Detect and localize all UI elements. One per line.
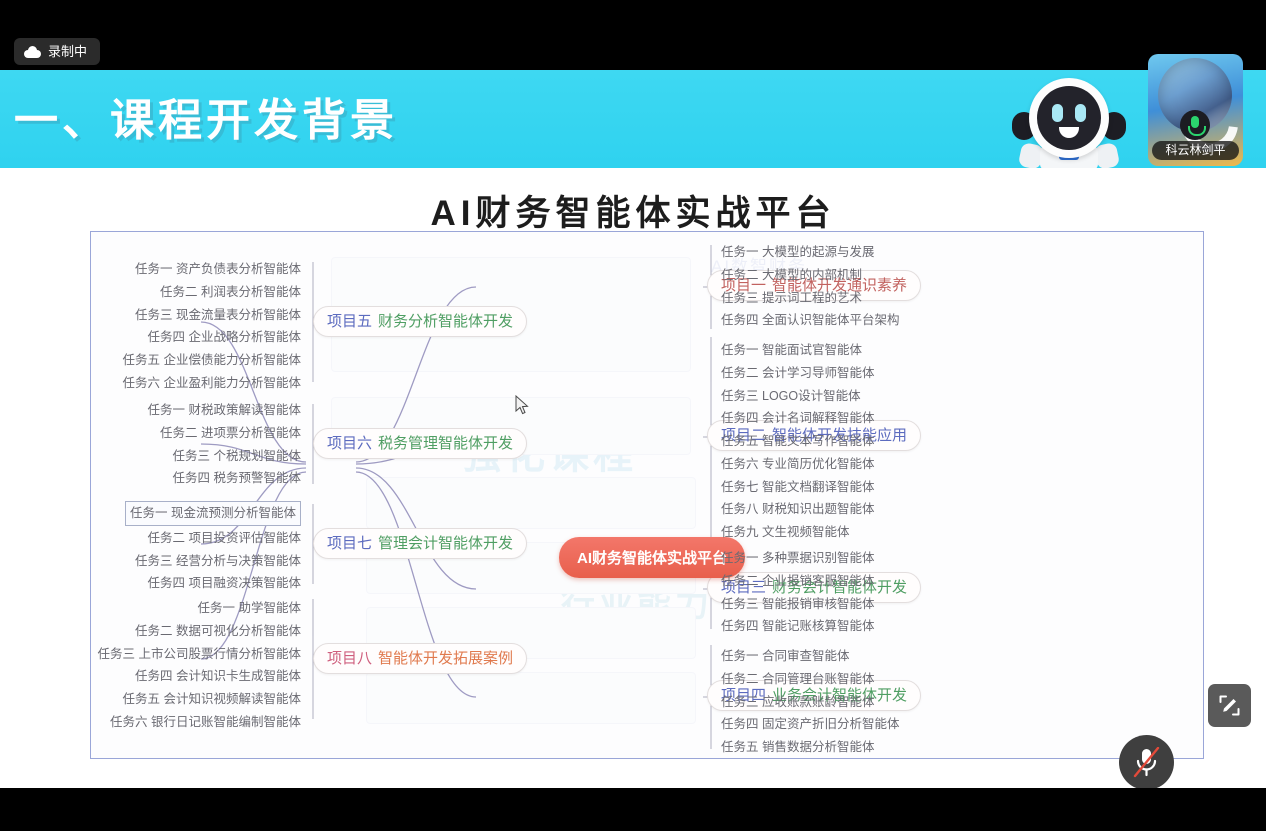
microphone-mute-button[interactable] bbox=[1119, 735, 1174, 790]
list-item-highlighted: 任务一 现金流预测分析智能体 bbox=[125, 501, 301, 526]
list-item: 任务八 财税知识出题智能体 bbox=[721, 498, 951, 521]
list-item: 任务一 资产负债表分析智能体 bbox=[81, 258, 301, 281]
node-project-8[interactable]: 项目八 智能体开发拓展案例 bbox=[313, 643, 527, 674]
list-item: 任务四 税务预警智能体 bbox=[81, 467, 301, 490]
project-6-title: 税务管理智能体开发 bbox=[378, 435, 513, 452]
mouse-cursor bbox=[515, 395, 529, 415]
list-item: 任务一 多种票据识别智能体 bbox=[721, 547, 951, 570]
list-item: 任务二 大模型的内部机制 bbox=[721, 264, 951, 287]
mindmap-frame: AI数智财务 强化课程 行业能力 bbox=[90, 231, 1204, 759]
list-item: 任务一 合同审查智能体 bbox=[721, 645, 956, 668]
list-item: 任务五 企业偿债能力分析智能体 bbox=[81, 349, 301, 372]
list-item: 任务五 会计知识视频解读智能体 bbox=[81, 688, 301, 711]
list-item: 任务三 上市公司股票行情分析智能体 bbox=[81, 643, 301, 666]
list-item: 任务五 销售数据分析智能体 bbox=[721, 736, 956, 759]
project-8-title: 智能体开发拓展案例 bbox=[378, 650, 513, 667]
list-item: 任务四 固定资产折旧分析智能体 bbox=[721, 713, 956, 736]
list-item: 任务一 财税政策解读智能体 bbox=[81, 399, 301, 422]
list-item: 任务六 企业盈利能力分析智能体 bbox=[81, 372, 301, 395]
list-item: 任务四 全面认识智能体平台架构 bbox=[721, 309, 951, 332]
slide-title: AI财务智能体实战平台 bbox=[0, 185, 1266, 236]
list-item: 任务一 大模型的起源与发展 bbox=[721, 241, 951, 264]
microphone-muted-icon bbox=[1132, 747, 1161, 778]
page-title: 一、课程开发背景 bbox=[14, 84, 398, 148]
list-item: 任务四 会计知识卡生成智能体 bbox=[81, 665, 301, 688]
webcam-name-label: 科云林剑平 bbox=[1152, 141, 1239, 160]
list-item: 任务三 智能报销审核智能体 bbox=[721, 593, 951, 616]
list-item: 任务四 会计名词解释智能体 bbox=[721, 407, 951, 430]
list-item: 任务一 智能面试官智能体 bbox=[721, 339, 951, 362]
bottom-bar bbox=[0, 788, 1266, 831]
list-item: 任务二 合同管理台账智能体 bbox=[721, 668, 956, 691]
tasks-project-2: 任务一 智能面试官智能体 任务二 会计学习导师智能体 任务三 LOGO设计智能体… bbox=[721, 339, 951, 544]
tasks-project-7: 任务一 现金流预测分析智能体 任务二 项目投资评估智能体 任务三 经营分析与决策… bbox=[81, 500, 301, 595]
list-item: 任务四 企业战略分析智能体 bbox=[81, 326, 301, 349]
robot-mascot-icon bbox=[1010, 78, 1128, 170]
list-item: 任务三 现金流量表分析智能体 bbox=[81, 304, 301, 327]
webcam-tile[interactable]: 科云林剑平 bbox=[1148, 54, 1243, 166]
list-item: 任务二 企业报销客服智能体 bbox=[721, 570, 951, 593]
list-item: 任务二 会计学习导师智能体 bbox=[721, 362, 951, 385]
project-7-number: 项目七 bbox=[327, 535, 372, 552]
slide-area: AI财务智能体实战平台 AI数智财务 强化课程 行业能力 bbox=[0, 168, 1266, 788]
list-item: 任务二 进项票分析智能体 bbox=[81, 422, 301, 445]
list-item: 任务九 文生视频智能体 bbox=[721, 521, 951, 544]
tasks-project-1: 任务一 大模型的起源与发展 任务二 大模型的内部机制 任务三 提示词工程的艺术 … bbox=[721, 241, 951, 332]
list-item: 任务六 专业简历优化智能体 bbox=[721, 453, 951, 476]
tasks-project-4: 任务一 合同审查智能体 任务二 合同管理台账智能体 任务三 应收账款账龄智能体 … bbox=[721, 645, 956, 759]
recording-label: 录制中 bbox=[48, 45, 87, 58]
screen-root: 录制中 一、课程开发背景 科云林剑平 AI财务智能体实战平台 bbox=[0, 0, 1266, 831]
node-project-7[interactable]: 项目七 管理会计智能体开发 bbox=[313, 528, 527, 559]
list-item: 任务七 智能文档翻译智能体 bbox=[721, 476, 951, 499]
pen-annotate-icon bbox=[1217, 693, 1242, 718]
tasks-project-6: 任务一 财税政策解读智能体 任务二 进项票分析智能体 任务三 个税规划智能体 任… bbox=[81, 399, 301, 490]
tasks-project-5: 任务一 资产负债表分析智能体 任务二 利润表分析智能体 任务三 现金流量表分析智… bbox=[81, 258, 301, 395]
list-item: 任务五 智能文本写作智能体 bbox=[721, 430, 951, 453]
recording-indicator: 录制中 bbox=[14, 38, 100, 65]
list-item: 任务四 项目融资决策智能体 bbox=[81, 572, 301, 595]
tasks-project-8: 任务一 助学智能体 任务二 数据可视化分析智能体 任务三 上市公司股票行情分析智… bbox=[81, 597, 301, 734]
project-5-number: 项目五 bbox=[327, 313, 372, 330]
list-item: 任务三 经营分析与决策智能体 bbox=[81, 550, 301, 573]
list-item: 任务一 助学智能体 bbox=[81, 597, 301, 620]
list-item: 任务六 银行日记账智能编制智能体 bbox=[81, 711, 301, 734]
node-project-5[interactable]: 项目五 财务分析智能体开发 bbox=[313, 306, 527, 337]
list-item: 任务三 LOGO设计智能体 bbox=[721, 385, 951, 408]
node-project-6[interactable]: 项目六 税务管理智能体开发 bbox=[313, 428, 527, 459]
project-8-number: 项目八 bbox=[327, 650, 372, 667]
project-6-number: 项目六 bbox=[327, 435, 372, 452]
list-item: 任务三 应收账款账龄智能体 bbox=[721, 691, 956, 714]
node-center[interactable]: AI财务智能体实战平台 bbox=[559, 537, 745, 578]
annotate-button[interactable] bbox=[1208, 684, 1251, 727]
microphone-icon bbox=[1180, 110, 1210, 140]
list-item: 任务二 数据可视化分析智能体 bbox=[81, 620, 301, 643]
list-item: 任务二 利润表分析智能体 bbox=[81, 281, 301, 304]
list-item: 任务三 提示词工程的艺术 bbox=[721, 287, 951, 310]
cloud-icon bbox=[24, 46, 41, 58]
list-item: 任务四 智能记账核算智能体 bbox=[721, 615, 951, 638]
list-item: 任务三 个税规划智能体 bbox=[81, 445, 301, 468]
project-7-title: 管理会计智能体开发 bbox=[378, 535, 513, 552]
tasks-project-3: 任务一 多种票据识别智能体 任务二 企业报销客服智能体 任务三 智能报销审核智能… bbox=[721, 547, 951, 638]
list-item: 任务二 项目投资评估智能体 bbox=[81, 527, 301, 550]
project-5-title: 财务分析智能体开发 bbox=[378, 313, 513, 330]
